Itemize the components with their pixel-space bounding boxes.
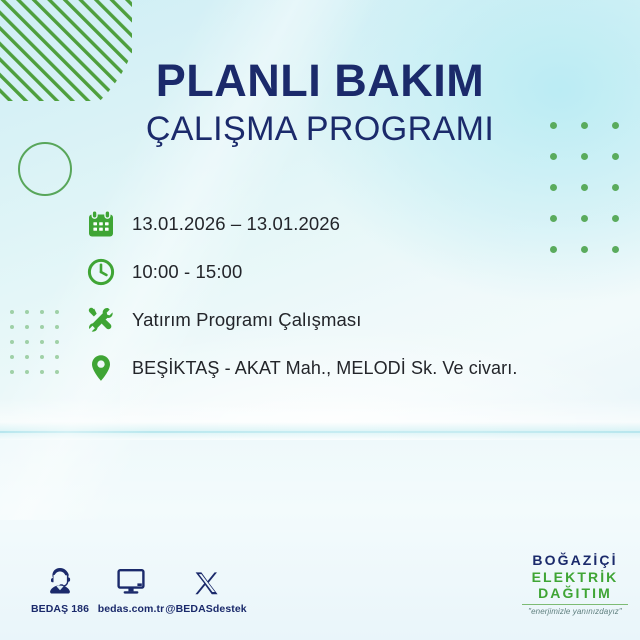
info-row-worktype: Yatırım Programı Çalışması <box>84 296 624 344</box>
calendar-icon <box>84 207 118 241</box>
logo-divider <box>522 604 628 605</box>
logo-line-bogazici: BOĞAZİÇİ <box>516 552 634 569</box>
tools-icon <box>84 303 118 337</box>
background-wave-line <box>0 431 640 433</box>
info-row-time-text: 10:00 - 15:00 <box>132 261 242 283</box>
info-row-worktype-text: Yatırım Programı Çalışması <box>132 309 361 331</box>
info-rows: 13.01.2026 – 13.01.2026 10:00 - 15:00 <box>84 200 624 392</box>
bedas-logo: BOĞAZİÇİ ELEKTRİK DAĞITIM "enerjimizle y… <box>516 552 634 616</box>
info-row-time: 10:00 - 15:00 <box>84 248 624 296</box>
info-row-location-text: BEŞİKTAŞ - AKAT Mah., MELODİ Sk. Ve civa… <box>132 358 517 379</box>
logo-line-dagitim: DAĞITIM <box>516 585 634 602</box>
footer-item-x-handle[interactable]: @BEDASdestek <box>160 560 252 615</box>
logo-line-elektrik: ELEKTRİK <box>516 569 634 586</box>
info-row-location: BEŞİKTAŞ - AKAT Mah., MELODİ Sk. Ve civa… <box>84 344 624 392</box>
x-twitter-icon <box>160 560 252 598</box>
planned-maintenance-poster: PLANLI BAKIM ÇALIŞMA PROGRAMI <box>0 0 640 640</box>
circle-outline-decor <box>18 142 72 196</box>
logo-tagline: "enerjimizle yanınızdayız" <box>516 607 634 616</box>
clock-icon <box>84 255 118 289</box>
poster-title: PLANLI BAKIM ÇALIŞMA PROGRAMI <box>0 58 640 149</box>
info-row-date: 13.01.2026 – 13.01.2026 <box>84 200 624 248</box>
location-pin-icon <box>84 351 118 385</box>
dot-grid-left-decor <box>10 310 59 374</box>
footer-item-x-handle-label: @BEDASdestek <box>160 603 252 615</box>
title-line-2: ÇALIŞMA PROGRAMI <box>0 110 640 149</box>
info-row-date-text: 13.01.2026 – 13.01.2026 <box>132 213 340 235</box>
background-wave-band <box>0 398 640 458</box>
title-line-1: PLANLI BAKIM <box>0 58 640 104</box>
